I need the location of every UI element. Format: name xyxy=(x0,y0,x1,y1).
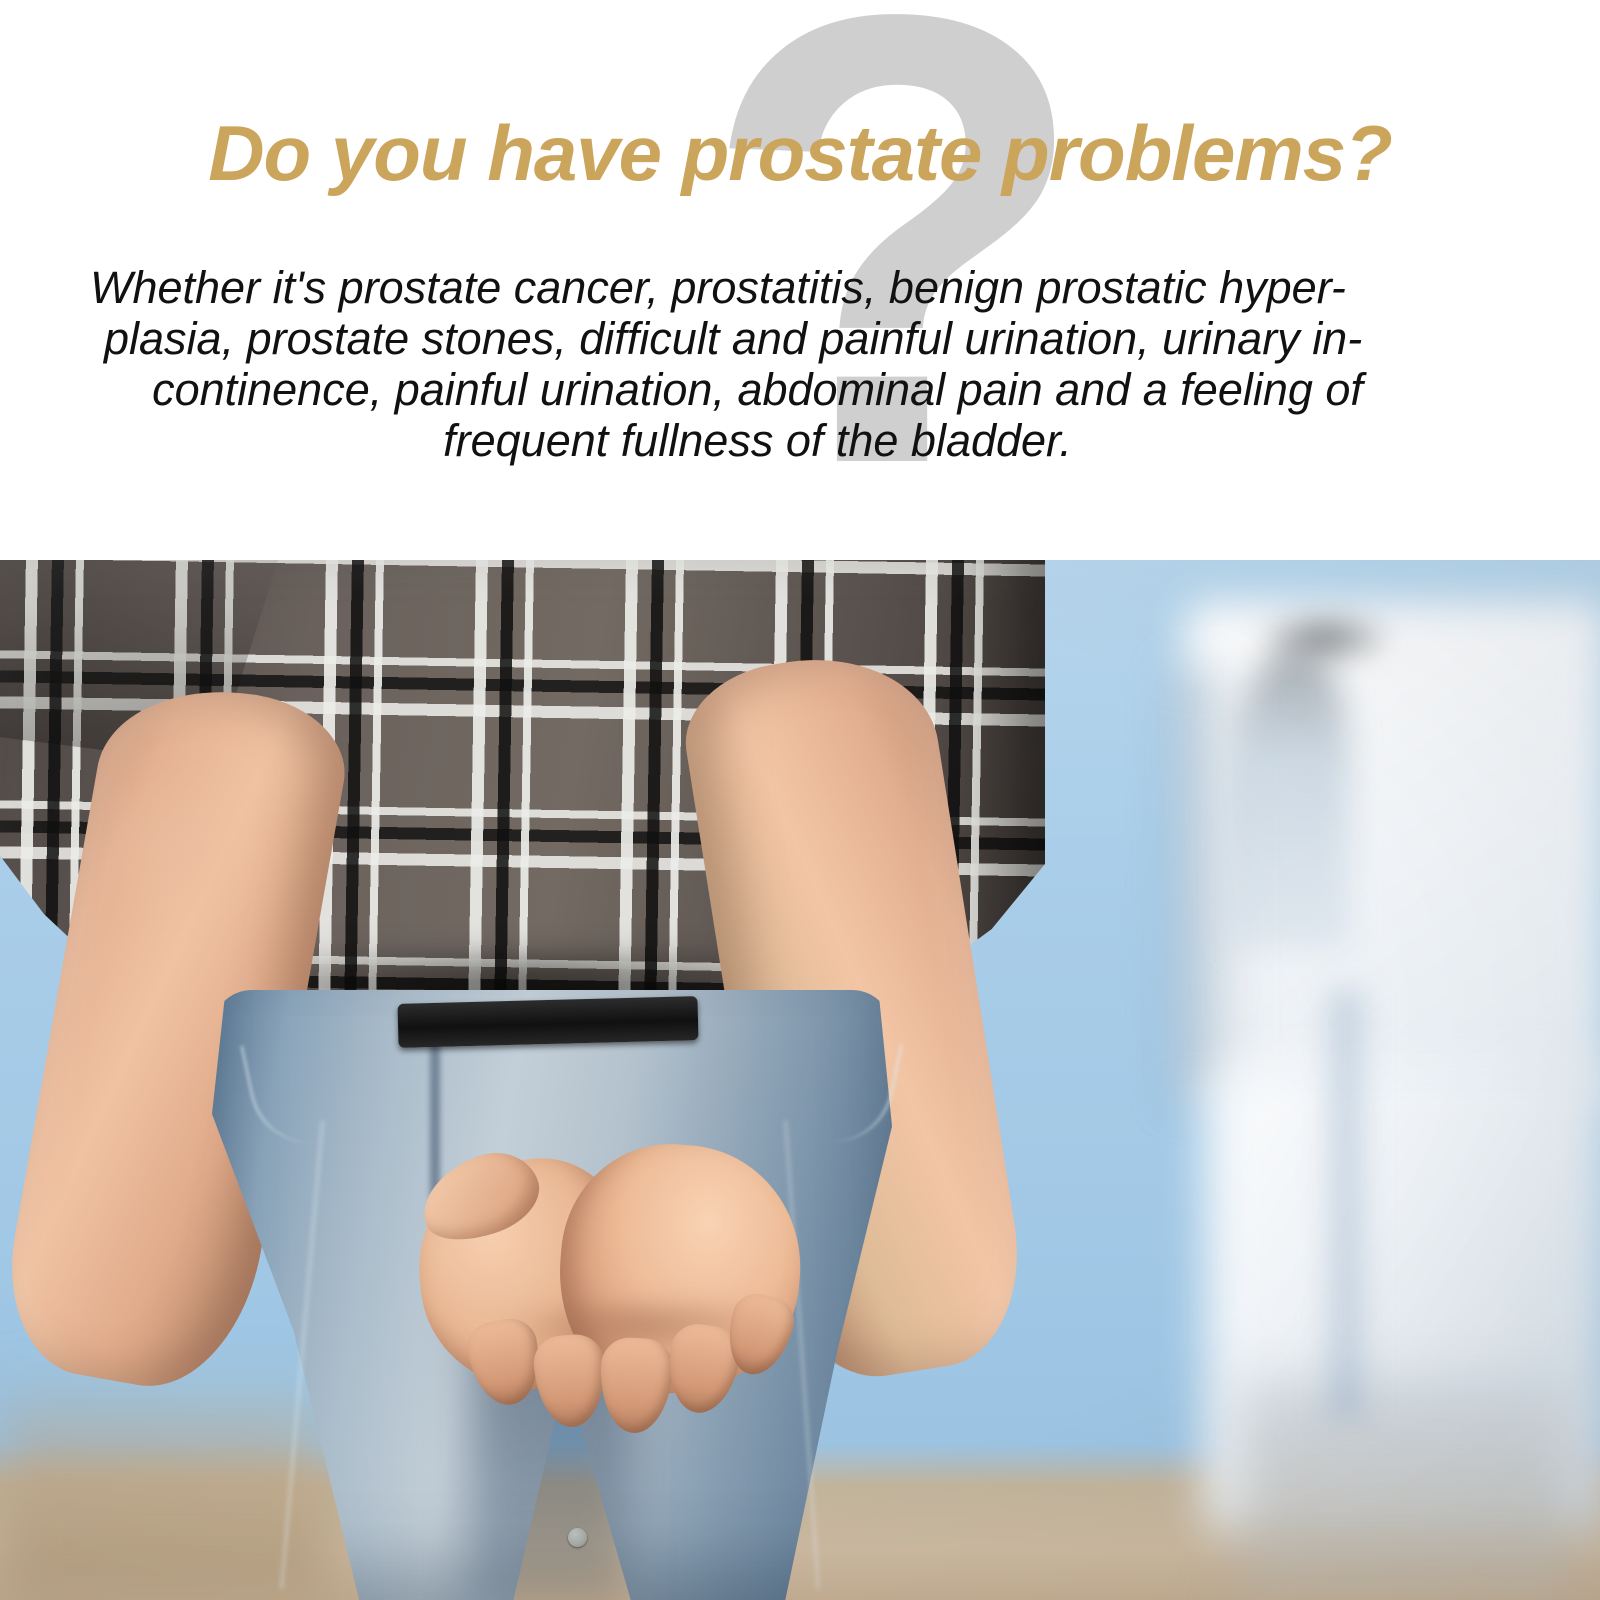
body-line-3: continence, painful urination, abdominal… xyxy=(90,364,1425,415)
body-line-4: frequent fullness of the bladder. xyxy=(90,415,1425,466)
left-elbow-highlight xyxy=(83,757,268,942)
body-copy: Whether it's prostate cancer, prostatiti… xyxy=(90,262,1425,466)
man-figure xyxy=(0,560,1600,1600)
text-panel: ? Do you have prostate problems? Whether… xyxy=(0,0,1600,560)
black-belt xyxy=(397,996,698,1048)
body-line-2: plasia, prostate stones, difficult and p… xyxy=(90,313,1425,364)
body-line-1: Whether it's prostate cancer, prostatiti… xyxy=(90,262,1425,313)
photo-man-holding-groin xyxy=(0,560,1600,1600)
prostate-awareness-poster: ? Do you have prostate problems? Whether… xyxy=(0,0,1600,1600)
page-title: Do you have prostate problems? xyxy=(0,108,1600,199)
